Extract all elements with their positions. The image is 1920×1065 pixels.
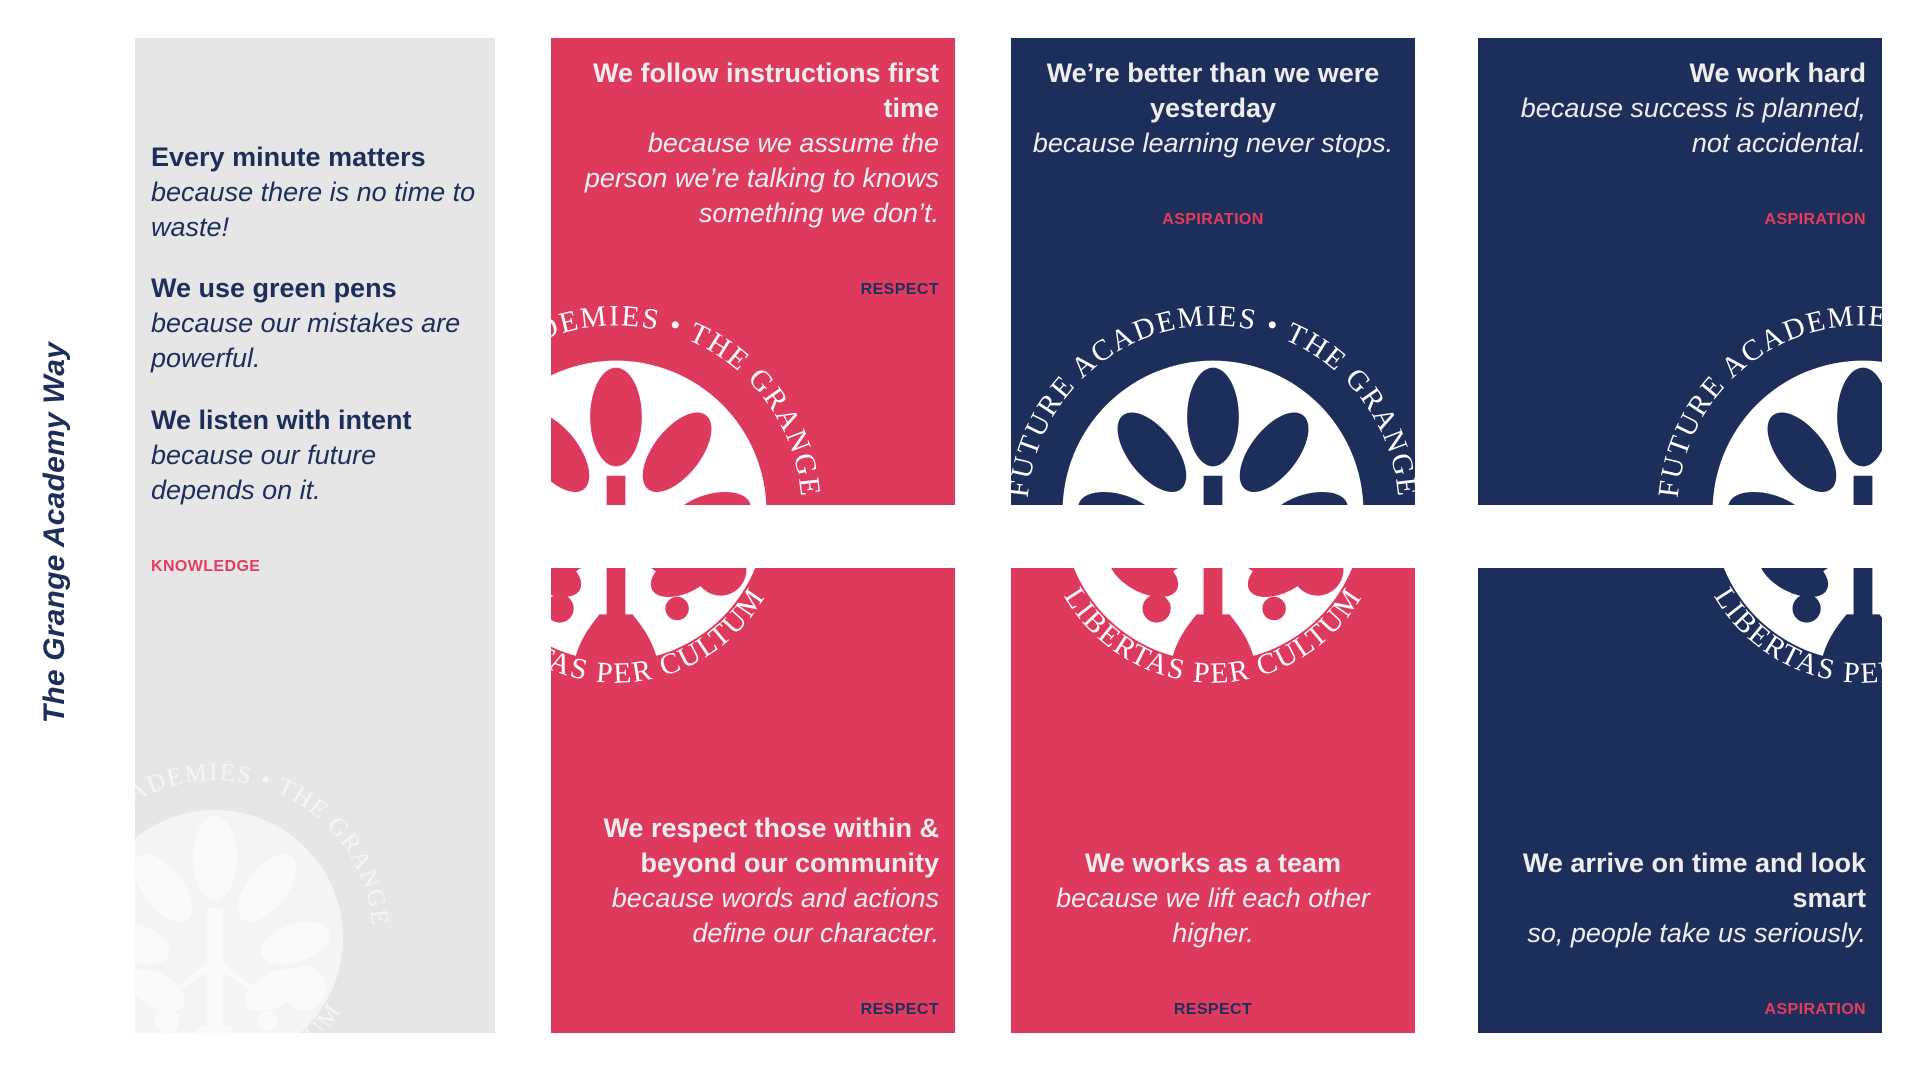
card-work-hard[interactable]: FUTURE ACADEMIES • THE GRANGE LIBERTAS P… bbox=[1478, 38, 1882, 505]
reason-text: so, people take us seriously. bbox=[1494, 916, 1866, 951]
statement-block: We follow instructions first time becaus… bbox=[567, 56, 939, 231]
reason-text: because we assume the person we’re talki… bbox=[567, 126, 939, 231]
reason-text: because learning never stops. bbox=[1027, 126, 1399, 161]
statement-text: Every minute matters bbox=[151, 140, 479, 175]
value-tag-badge: KNOWLEDGE bbox=[151, 558, 479, 576]
statement-block: We works as a team because we lift each … bbox=[1027, 846, 1399, 951]
reason-text: because there is no time to waste! bbox=[151, 175, 479, 245]
statement-block: We work hard because success is planned,… bbox=[1494, 56, 1866, 161]
statement-text: We’re better than we were yesterday bbox=[1027, 56, 1399, 126]
reason-text: because success is planned, not accident… bbox=[1494, 91, 1866, 161]
card-knowledge-content: Every minute matters because there is no… bbox=[135, 38, 495, 1033]
value-tag-badge: RESPECT bbox=[567, 281, 939, 299]
value-tag-badge: RESPECT bbox=[1027, 1001, 1399, 1019]
card-work-hard-content: We work hard because success is planned,… bbox=[1478, 38, 1882, 505]
card-arrive-on-time-content: We arrive on time and look smart so, peo… bbox=[1478, 568, 1882, 1033]
statement-block: We use green pens because our mistakes a… bbox=[151, 271, 479, 376]
column-mixed: FUTURE ACADEMIES • THE GRANGE LIBERTAS P… bbox=[1011, 38, 1415, 1033]
value-tag-badge: ASPIRATION bbox=[1494, 211, 1866, 229]
card-better-than-yesterday[interactable]: FUTURE ACADEMIES • THE GRANGE LIBERTAS P… bbox=[1011, 38, 1415, 505]
reason-text: because our future depends on it. bbox=[151, 438, 479, 508]
vertical-title-text: The Grange Academy Way bbox=[38, 342, 72, 723]
value-tag-badge: RESPECT bbox=[567, 1001, 939, 1019]
statement-text: We respect those within & beyond our com… bbox=[567, 811, 939, 881]
reason-text: because words and actions define our cha… bbox=[567, 881, 939, 951]
card-works-as-a-team[interactable]: FUTURE ACADEMIES • THE GRANGE LIBERTAS P… bbox=[1011, 568, 1415, 1033]
card-arrive-on-time[interactable]: FUTURE ACADEMIES • THE GRANGE LIBERTAS P… bbox=[1478, 568, 1882, 1033]
statement-block: We arrive on time and look smart so, peo… bbox=[1494, 846, 1866, 951]
statement-block: We respect those within & beyond our com… bbox=[567, 811, 939, 951]
statement-text: We works as a team bbox=[1027, 846, 1399, 881]
statement-text: We listen with intent bbox=[151, 403, 479, 438]
statement-text: We follow instructions first time bbox=[567, 56, 939, 126]
statement-block: Every minute matters because there is no… bbox=[151, 140, 479, 245]
column-respect-a: FUTURE ACADEMIES • THE GRANGE LIBERTAS P… bbox=[551, 38, 955, 1033]
column-aspiration: FUTURE ACADEMIES • THE GRANGE LIBERTAS P… bbox=[1478, 38, 1882, 1033]
slide-vertical-title: The Grange Academy Way bbox=[0, 0, 110, 1065]
card-better-than-yesterday-content: We’re better than we were yesterday beca… bbox=[1011, 38, 1415, 505]
statement-text: We arrive on time and look smart bbox=[1494, 846, 1866, 916]
statement-text: We work hard bbox=[1494, 56, 1866, 91]
value-tag-badge: ASPIRATION bbox=[1027, 211, 1399, 229]
card-respect-those-content: We respect those within & beyond our com… bbox=[551, 568, 955, 1033]
card-respect-those[interactable]: FUTURE ACADEMIES • THE GRANGE LIBERTAS P… bbox=[551, 568, 955, 1033]
slide-canvas: The Grange Academy Way bbox=[0, 0, 1920, 1065]
value-tag-badge: ASPIRATION bbox=[1494, 1001, 1866, 1019]
statement-block: We’re better than we were yesterday beca… bbox=[1027, 56, 1399, 161]
reason-text: because we lift each other higher. bbox=[1027, 881, 1399, 951]
statement-text: We use green pens bbox=[151, 271, 479, 306]
card-works-as-a-team-content: We works as a team because we lift each … bbox=[1011, 568, 1415, 1033]
column-knowledge: FUTURE ACADEMIES • THE GRANGE LIBERTAS P… bbox=[135, 38, 495, 1033]
reason-text: because our mistakes are powerful. bbox=[151, 306, 479, 376]
card-follow-instructions[interactable]: FUTURE ACADEMIES • THE GRANGE LIBERTAS P… bbox=[551, 38, 955, 505]
card-knowledge[interactable]: FUTURE ACADEMIES • THE GRANGE LIBERTAS P… bbox=[135, 38, 495, 1033]
statement-block: We listen with intent because our future… bbox=[151, 403, 479, 508]
card-follow-instructions-content: We follow instructions first time becaus… bbox=[551, 38, 955, 505]
